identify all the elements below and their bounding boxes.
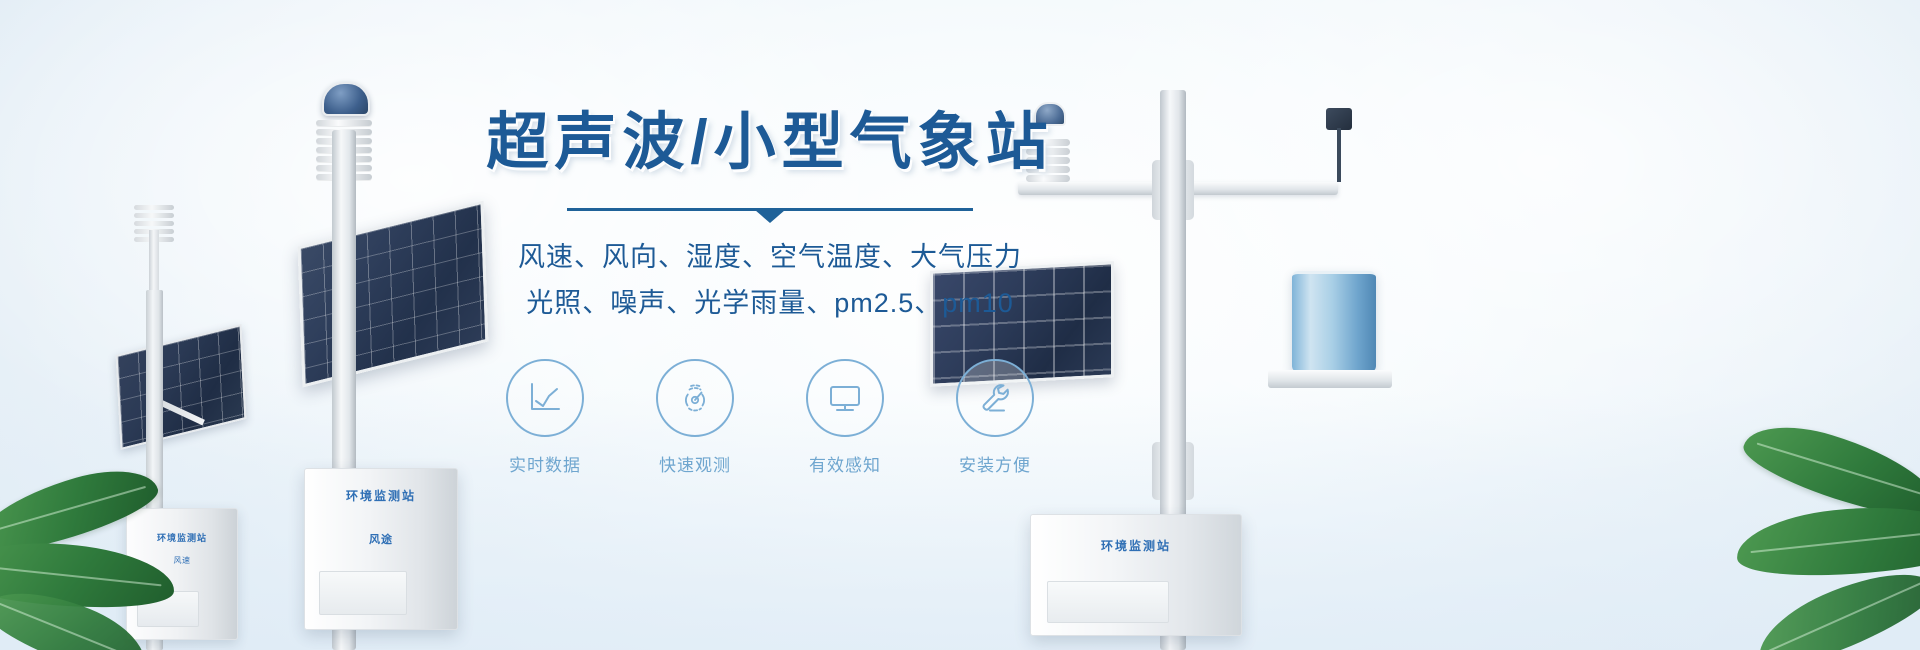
radiation-dome-icon (322, 82, 370, 116)
feature-item-fast-observation[interactable]: 快速观测 (641, 359, 749, 476)
banner-content: 超声波/小型气象站 风速、风向、湿度、空气温度、大气压力 光照、噪声、光学雨量、… (440, 0, 1100, 650)
feature-item-realtime-data[interactable]: 实时数据 (491, 359, 599, 476)
feature-label: 快速观测 (641, 451, 749, 476)
solar-panel (116, 324, 247, 450)
rain-gauge (1292, 271, 1376, 372)
feature-label: 有效感知 (791, 451, 899, 476)
caret-down-icon (755, 210, 785, 223)
feature-icon-circle (956, 359, 1034, 437)
cabinet-label: 环境监测站 (127, 531, 237, 544)
equipment-cabinet: 环境监测站 风途 (304, 468, 458, 630)
banner-subtitle-line-1: 风速、风向、湿度、空气温度、大气压力 (440, 237, 1100, 279)
feature-item-effective-sensing[interactable]: 有效感知 (791, 359, 899, 476)
feature-item-easy-install[interactable]: 安装方便 (941, 359, 1049, 476)
feature-list: 实时数据 快 (440, 359, 1100, 476)
weather-station-banner: 环境监测站 风速 环境监测站 风途 (0, 0, 1920, 650)
banner-title: 超声波/小型气象站 (440, 112, 1100, 174)
feature-label: 实时数据 (491, 451, 599, 476)
line-chart-icon (526, 379, 564, 417)
feature-label: 安装方便 (941, 451, 1049, 476)
monitor-icon (826, 379, 864, 417)
title-divider (567, 208, 973, 211)
feature-icon-circle (506, 359, 584, 437)
wind-vane-icon (1326, 122, 1352, 182)
feature-icon-circle (656, 359, 734, 437)
wrench-icon (976, 379, 1014, 417)
cabinet-brand-label: 风途 (305, 531, 457, 547)
feature-icon-circle (806, 359, 884, 437)
rain-gauge-shelf (1268, 370, 1392, 388)
cabinet-door (319, 571, 407, 615)
banner-subtitle-line-2: 光照、噪声、光学雨量、pm2.5、pm10 (440, 283, 1100, 325)
radar-signal-icon (676, 379, 714, 417)
cabinet-label: 环境监测站 (305, 487, 457, 504)
